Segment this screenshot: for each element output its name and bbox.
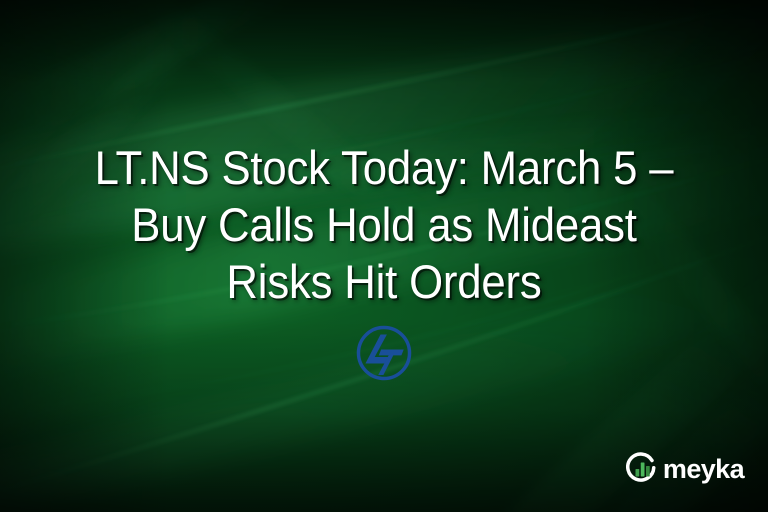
brand-name: meyka xyxy=(663,456,744,483)
brand-watermark: meyka xyxy=(626,452,744,484)
stock-news-banner: LT.NS Stock Today: March 5 – Buy Calls H… xyxy=(0,0,768,512)
page-title: LT.NS Stock Today: March 5 – Buy Calls H… xyxy=(27,139,741,310)
meyka-ring-chart-icon xyxy=(626,452,658,484)
lt-logo-icon: L&T xyxy=(355,324,413,382)
